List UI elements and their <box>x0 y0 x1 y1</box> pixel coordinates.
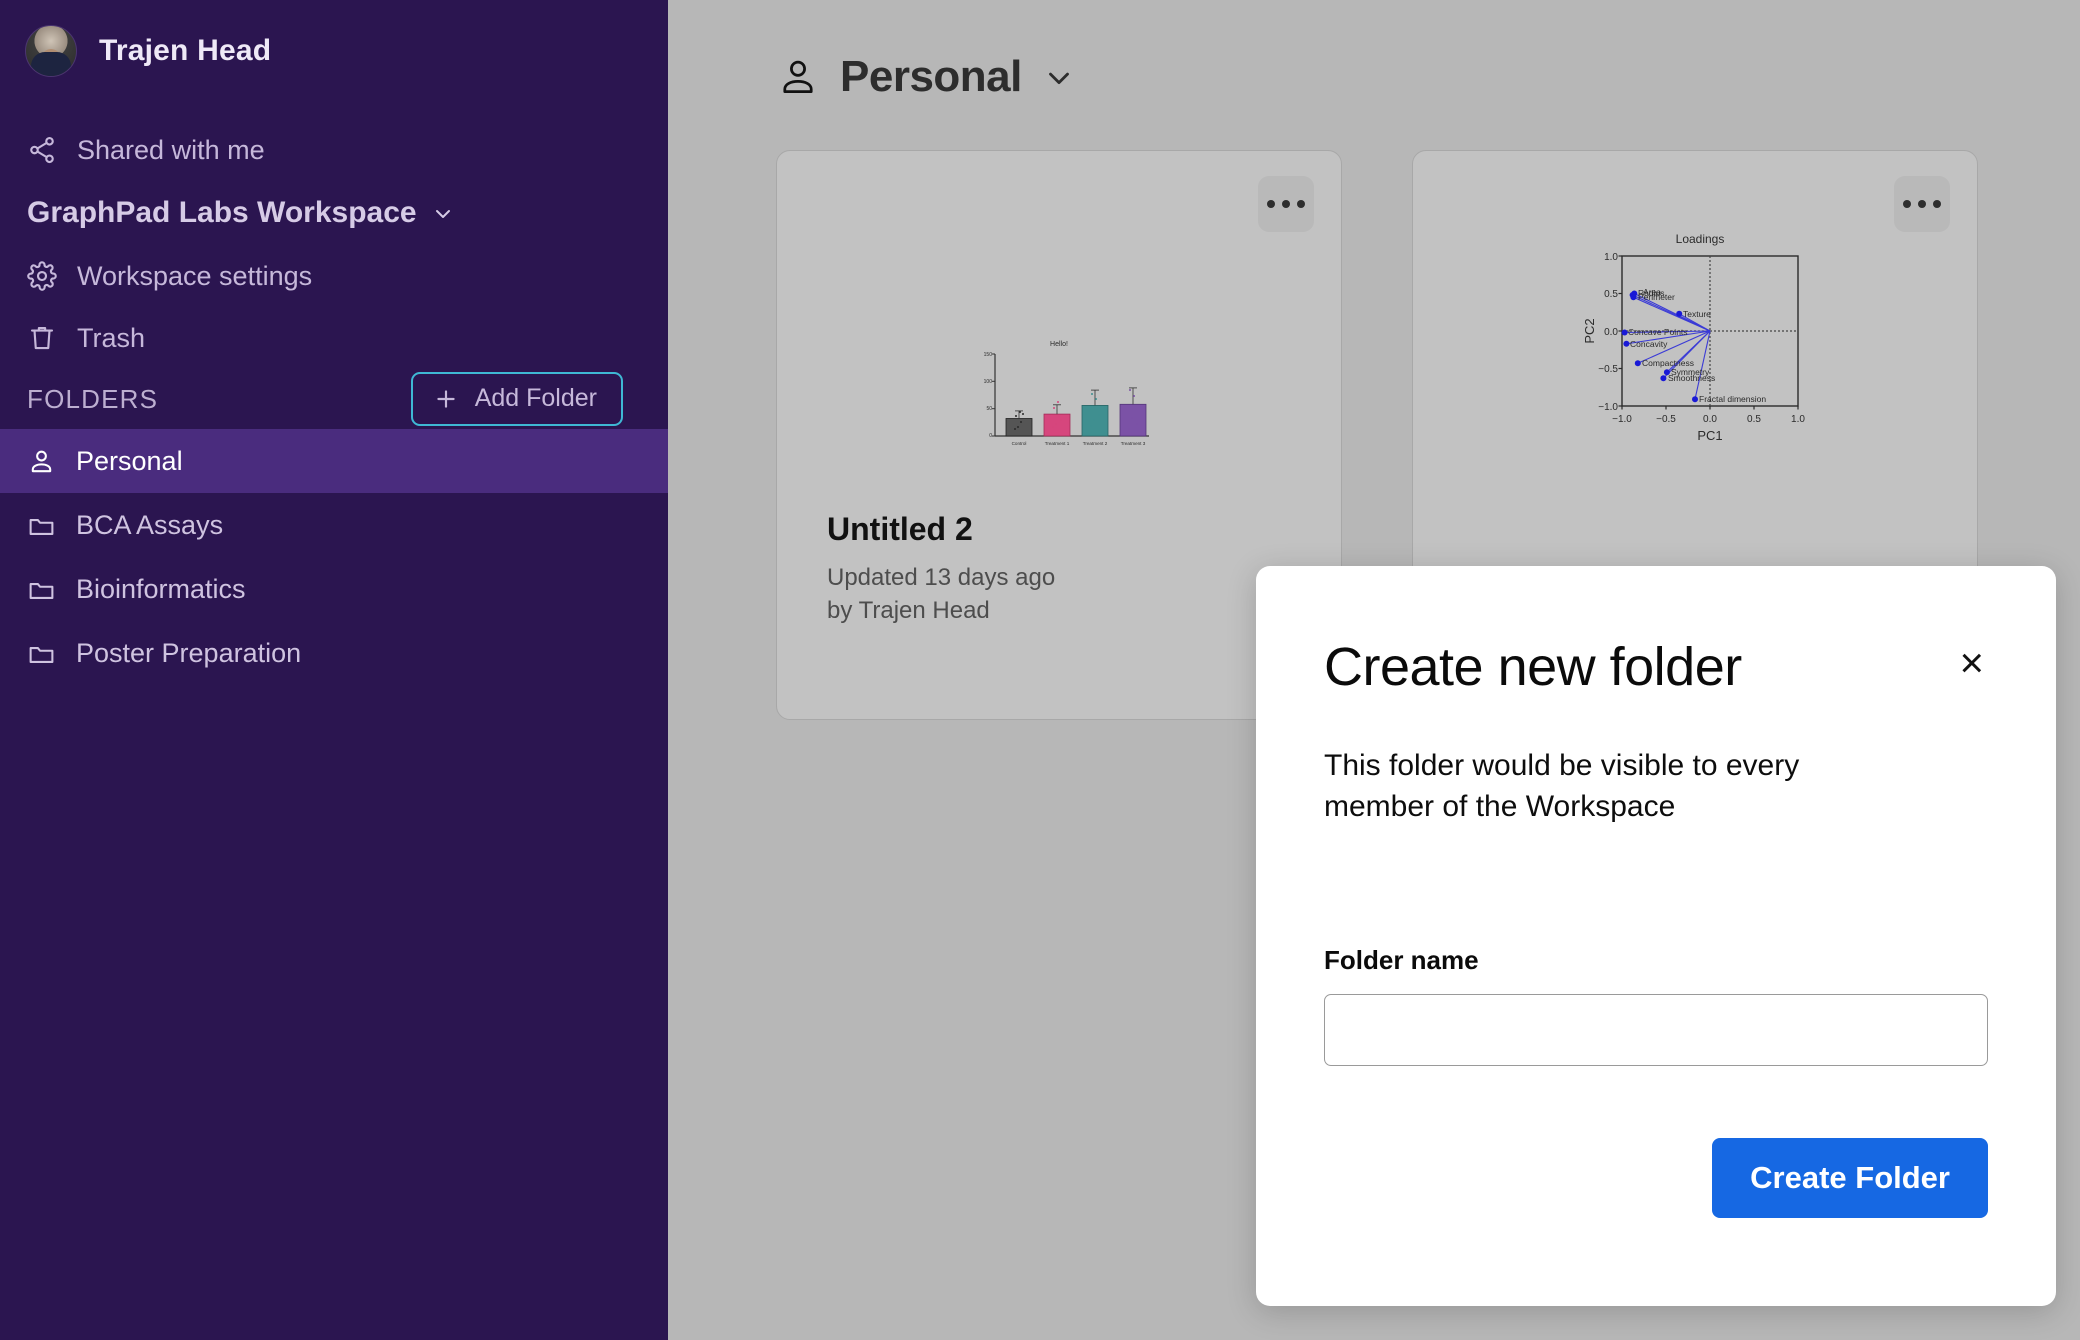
folder-icon <box>27 575 56 604</box>
sidebar-folder-bca-assays[interactable]: BCA Assays <box>0 493 668 557</box>
bar-xtick-label: Control <box>1012 441 1027 446</box>
workspace-name: GraphPad Labs Workspace <box>27 196 417 230</box>
svg-text:50: 50 <box>986 406 992 412</box>
sidebar-user[interactable]: Trajen Head <box>0 0 668 77</box>
folder-icon <box>27 511 56 540</box>
pca-point-label: Concavity <box>1630 339 1668 349</box>
sidebar-folder-bioinformatics[interactable]: Bioinformatics <box>0 557 668 621</box>
trash-icon <box>27 323 57 353</box>
bar-chart-svg: Hello! 0 50 100 150 <box>959 336 1159 456</box>
sidebar-item-label: Trash <box>77 323 145 354</box>
bar-chart-title: Hello! <box>1050 341 1068 348</box>
pca-point-label: Fractal dimension <box>1699 394 1766 404</box>
card-updated: Updated 13 days ago <box>827 562 1055 594</box>
card-menu-button[interactable] <box>1258 176 1314 232</box>
folder-icon <box>27 639 56 668</box>
sidebar-folder-label: Bioinformatics <box>76 574 246 605</box>
page-header: Personal <box>668 0 2080 102</box>
pca-ytick-label: 0.0 <box>1604 327 1618 338</box>
chevron-down-icon <box>431 201 455 225</box>
sidebar-folder-personal[interactable]: Personal <box>0 429 668 493</box>
pca-point-label: Concave Points <box>1628 327 1688 337</box>
sidebar-item-workspace-settings[interactable]: Workspace settings <box>0 245 668 307</box>
folder-name-label: Folder name <box>1324 945 1988 976</box>
app-root: Trajen Head Shared with me GraphPad Labs… <box>0 0 2080 1340</box>
gear-icon <box>27 261 57 291</box>
pca-point-label: Texture <box>1683 309 1711 319</box>
workspace-switcher[interactable]: GraphPad Labs Workspace <box>0 181 668 245</box>
pca-ytick-label: 0.5 <box>1604 289 1618 300</box>
sidebar-item-shared-with-me[interactable]: Shared with me <box>0 119 668 181</box>
chevron-down-icon[interactable] <box>1042 60 1076 94</box>
svg-text:0: 0 <box>989 433 992 439</box>
pca-point-label: Perimeter <box>1638 292 1675 302</box>
create-folder-button[interactable]: Create Folder <box>1712 1138 1988 1218</box>
pca-point-label: Smoothness <box>1668 373 1715 383</box>
sidebar-folder-label: Personal <box>76 446 183 477</box>
sidebar-item-trash[interactable]: Trash <box>0 307 668 369</box>
pca-title: Loadings <box>1676 232 1725 246</box>
pca-loadings-svg: Loadings 1.0 0.5 0.0 −0.5 −1.0 <box>1560 226 1830 476</box>
pca-ytick-label: 1.0 <box>1604 252 1618 263</box>
ellipsis-icon <box>1267 200 1275 208</box>
dialog-description: This folder would be visible to every me… <box>1324 746 1904 827</box>
pca-ylabel: PC2 <box>1582 318 1597 343</box>
pca-xlabel: PC1 <box>1697 428 1722 443</box>
add-folder-label: Add Folder <box>475 384 597 413</box>
folder-name-input[interactable] <box>1324 994 1988 1066</box>
close-icon[interactable]: × <box>1959 636 1988 684</box>
svg-text:150: 150 <box>984 352 993 358</box>
add-folder-button[interactable]: Add Folder <box>411 372 623 426</box>
bar-xtick-label: Treatment 1 <box>1045 441 1070 446</box>
plus-icon <box>433 386 459 412</box>
svg-text:100: 100 <box>984 379 993 385</box>
folders-label: FOLDERS <box>27 384 158 415</box>
sidebar-item-label: Shared with me <box>77 135 265 166</box>
card-author: by Trajen Head <box>827 595 1055 627</box>
bar-xtick-label: Treatment 2 <box>1083 441 1108 446</box>
pca-xtick-label: 0.5 <box>1747 414 1761 425</box>
dialog-title: Create new folder <box>1324 636 1742 698</box>
pca-xtick-label: 1.0 <box>1791 414 1805 425</box>
pca-ytick-label: −0.5 <box>1598 364 1618 375</box>
avatar <box>25 25 77 77</box>
pca-ytick-label: −1.0 <box>1598 402 1618 413</box>
person-icon <box>776 55 820 99</box>
sidebar: Trajen Head Shared with me GraphPad Labs… <box>0 0 668 1340</box>
pca-xtick-label: −0.5 <box>1656 414 1676 425</box>
dialog-header: Create new folder × <box>1324 636 1988 698</box>
folders-header: FOLDERS Add Folder <box>0 369 668 429</box>
card-thumbnail-pca-loadings: Loadings 1.0 0.5 0.0 −0.5 −1.0 <box>1413 186 1977 516</box>
pca-xtick-label: 0.0 <box>1703 414 1717 425</box>
sidebar-folder-label: BCA Assays <box>76 510 223 541</box>
sidebar-folder-poster-preparation[interactable]: Poster Preparation <box>0 621 668 685</box>
share-icon <box>27 135 57 165</box>
sidebar-folder-label: Poster Preparation <box>76 638 301 669</box>
bar-xtick-label: Treatment 3 <box>1121 441 1146 446</box>
card-title: Untitled 2 <box>827 511 1055 548</box>
page-title: Personal <box>840 52 1022 102</box>
create-folder-dialog: Create new folder × This folder would be… <box>1256 566 2056 1306</box>
card-footer: Untitled 2 Updated 13 days ago by Trajen… <box>827 511 1055 627</box>
sidebar-item-label: Workspace settings <box>77 261 312 292</box>
card-thumbnail-bar-chart: Hello! 0 50 100 150 <box>777 246 1341 546</box>
dialog-actions: Create Folder <box>1324 1138 1988 1218</box>
pca-xtick-label: −1.0 <box>1612 414 1632 425</box>
ellipsis-icon <box>1297 200 1305 208</box>
person-icon <box>27 447 56 476</box>
ellipsis-icon <box>1282 200 1290 208</box>
user-name: Trajen Head <box>99 34 271 68</box>
